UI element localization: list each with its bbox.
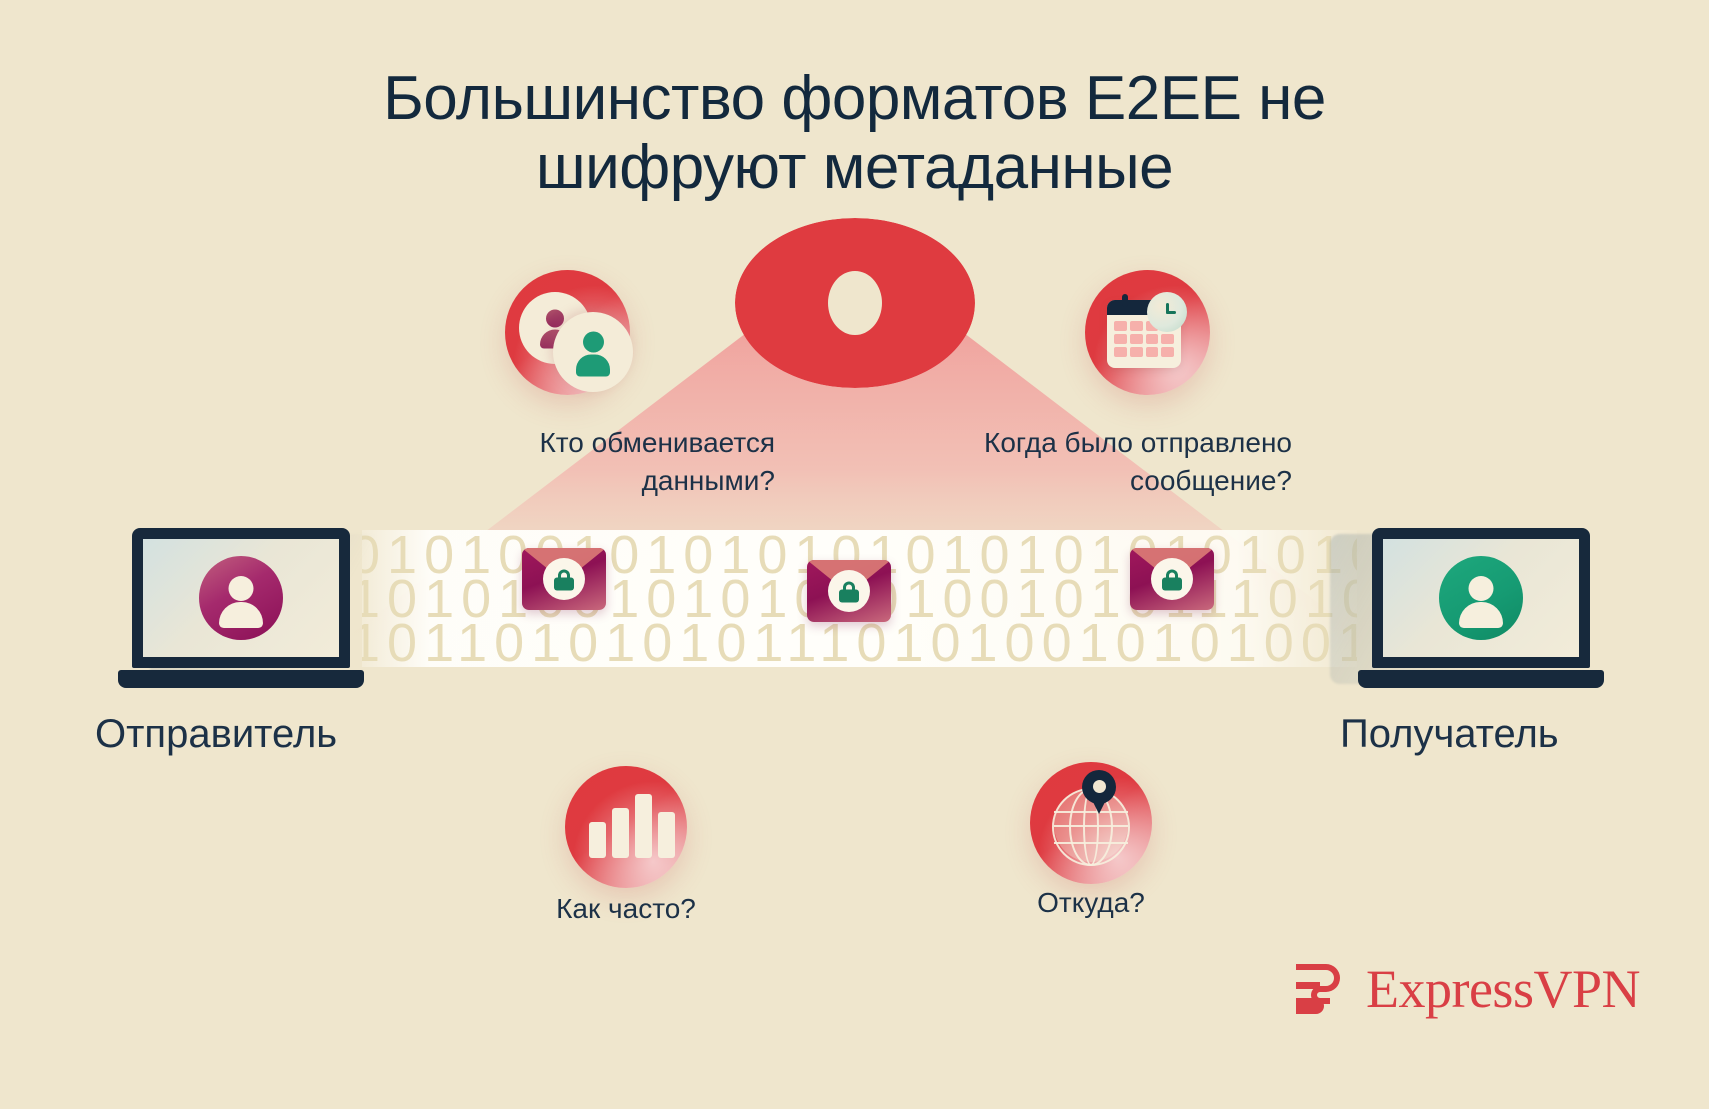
avatar-sender [199,556,283,640]
laptop-lid [1372,528,1590,668]
infographic-canvas: Большинство форматов E2EE не шифруют мет… [0,0,1709,1109]
question-label-who: Кто обменивается данными? [440,424,775,500]
person-front-icon [553,312,633,392]
calendar-clock-icon [1085,270,1210,395]
laptop-screen [1383,539,1579,657]
title-line-2: шифруют метаданные [0,133,1709,202]
laptop-icon-receiver [1358,528,1604,688]
avatar-receiver [1439,556,1523,640]
title-line-1: Большинство форматов E2EE не [0,64,1709,133]
expressvpn-logo-mark [1292,958,1350,1020]
eye-icon [735,218,975,388]
question-label-from-where: Откуда? [945,884,1237,922]
expressvpn-logo[interactable]: ExpressVPN [1292,958,1640,1020]
encrypted-data-stream: 010100101010101010101010101010101010101 … [362,530,1357,667]
laptop-screen [143,539,339,657]
laptop-base [1358,670,1604,688]
receiver-label: Получатель [1340,712,1559,757]
map-pin-icon [1082,770,1116,816]
page-title: Большинство форматов E2EE не шифруют мет… [0,64,1709,203]
question-label-when: Когда было отправлено сообщение? [880,424,1292,500]
eye-lens [735,218,975,388]
bar-chart-icon [565,766,687,888]
calendar-ring-left [1122,294,1128,307]
laptop-lid [132,528,350,668]
people-icon [505,270,630,395]
globe-pin-icon [1030,762,1152,884]
bar-chart-bars [589,794,675,858]
sender-label: Отправитель [95,712,337,757]
laptop-icon-sender [118,528,364,688]
laptop-base [118,670,364,688]
clock-icon [1147,292,1187,332]
expressvpn-wordmark: ExpressVPN [1366,958,1640,1020]
eye-pupil [828,271,882,335]
locked-envelope-icon [1130,548,1214,610]
question-label-how-often: Как часто? [480,890,772,928]
locked-envelope-icon [522,548,606,610]
locked-envelope-icon [807,560,891,622]
